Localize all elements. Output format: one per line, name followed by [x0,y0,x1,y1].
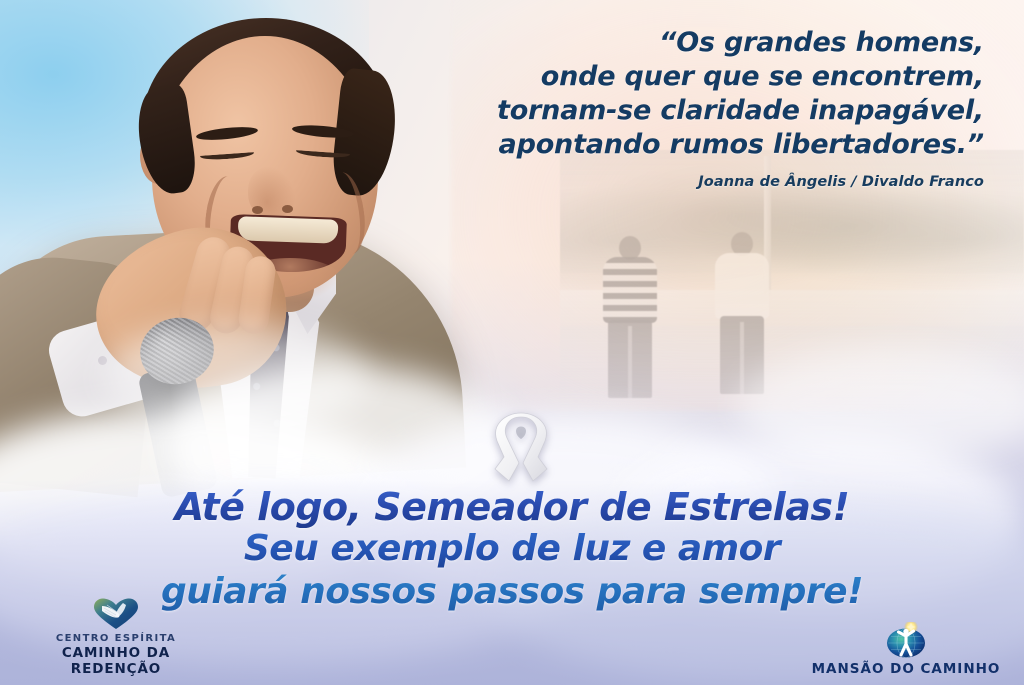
headline-line-1: Até logo, Semeador de Estrelas! [0,486,1024,528]
figure-torso [603,257,657,323]
logo-centro-espirita-caminho-da-redencao: CENTRO ESPÍRITA CAMINHO DA REDENÇÃO [16,598,216,677]
logo-right-line-2: MANSÃO DO CAMINHO [796,661,1016,677]
quote-block: “Os grandes homens, onde quer que se enc… [364,26,984,190]
quote-line-1: “Os grandes homens, [364,26,984,60]
headline-block: Até logo, Semeador de Estrelas! Seu exem… [0,486,1024,614]
logo-mansao-do-caminho: MANSÃO DO CAMINHO [796,622,1016,677]
heart-clasping-hands-icon [93,598,139,630]
globe-figure-star-icon [884,622,928,658]
nostril-right [282,205,293,213]
photo-figure-white-shirt [712,232,772,408]
cuff-button [98,356,107,365]
figure-legs [720,316,764,394]
logo-left-line-1: CENTRO ESPÍRITA [16,633,216,645]
headline-line-2: Seu exemplo de luz e amor [0,528,1024,570]
figure-torso [715,253,769,319]
quote-line-2: onde quer que se encontrem, [364,60,984,94]
quote-line-3: tornam-se claridade inapagável, [364,94,984,128]
quote-line-4: apontando rumos libertadores.” [364,128,984,162]
quote-attribution: Joanna de Ângelis / Divaldo Franco [364,174,984,190]
faded-photo-two-men-walking [560,150,1024,430]
photo-figure-striped-shirt [600,236,660,408]
teeth [238,216,339,243]
memorial-poster: “Os grandes homens, onde quer que se enc… [0,0,1024,685]
nostril-left [252,206,263,214]
logo-left-line-2: CAMINHO DA REDENÇÃO [16,645,216,677]
figure-legs [608,320,652,398]
white-awareness-ribbon-icon [489,411,553,487]
